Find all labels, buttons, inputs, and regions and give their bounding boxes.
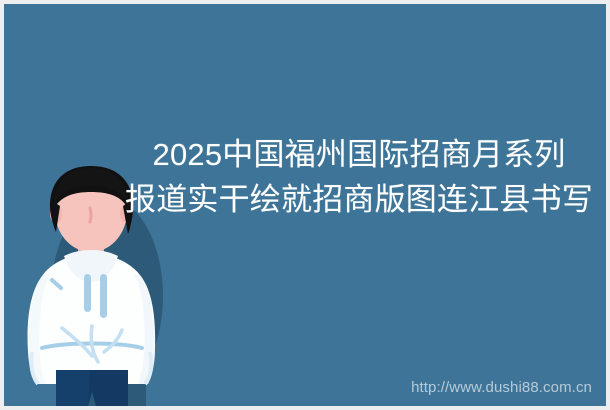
person-illustration	[12, 156, 182, 406]
headline: 2025中国福州国际招商月系列 报道实干绘就招商版图连江县书写	[112, 132, 606, 222]
headline-line-2: 报道实干绘就招商版图连江县书写	[112, 177, 606, 222]
watermark-url: http://www.dushi88.com.cn	[411, 378, 592, 398]
article-cover-card: 2025中国福州国际招商月系列 报道实干绘就招商版图连江县书写 http://w…	[0, 0, 610, 410]
headline-line-1: 2025中国福州国际招商月系列	[112, 132, 606, 177]
